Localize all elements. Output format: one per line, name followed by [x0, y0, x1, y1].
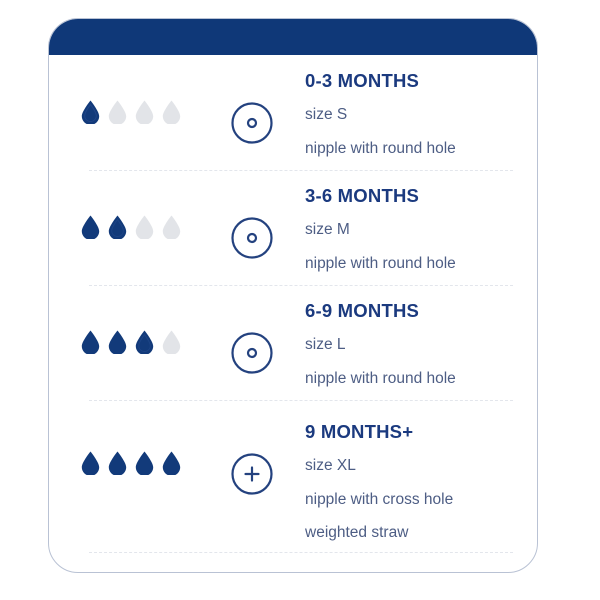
flow-rate-guide-card: 0-3 MONTHS size S nipple with round hole — [48, 18, 538, 573]
droplet-icon — [108, 100, 127, 124]
flow-level-drops — [81, 70, 205, 124]
nipple-icon-wrapper — [205, 70, 275, 146]
size-rows-list: 0-3 MONTHS size S nipple with round hole — [49, 56, 538, 553]
droplet-icon — [162, 100, 181, 124]
droplet-icon — [81, 330, 100, 354]
row-divider — [89, 552, 513, 553]
row-detail-line: nipple with round hole — [305, 139, 515, 158]
nipple-icon-wrapper — [205, 421, 275, 497]
table-row: 3-6 MONTHS size M nipple with round hole — [49, 171, 538, 286]
row-text-block: 9 MONTHS+ size XL nipple with cross hole… — [305, 421, 515, 542]
droplet-icon — [108, 330, 127, 354]
card-header-bar — [48, 18, 538, 55]
flow-level-drops — [81, 421, 205, 475]
table-row: 0-3 MONTHS size S nipple with round hole — [49, 56, 538, 171]
droplet-icon — [162, 330, 181, 354]
nipple-icon-wrapper — [205, 185, 275, 261]
row-detail-line: size L — [305, 335, 515, 354]
row-detail-line: nipple with cross hole — [305, 490, 515, 509]
row-title: 0-3 MONTHS — [305, 70, 515, 92]
row-text-block: 0-3 MONTHS size S nipple with round hole — [305, 70, 515, 158]
droplet-icon — [135, 100, 154, 124]
droplet-icon — [135, 330, 154, 354]
table-row: 6-9 MONTHS size L nipple with round hole — [49, 286, 538, 401]
circle-round-hole-icon — [229, 330, 275, 376]
row-detail-line: nipple with round hole — [305, 254, 515, 273]
droplet-icon — [135, 451, 154, 475]
droplet-icon — [135, 215, 154, 239]
droplet-icon — [162, 215, 181, 239]
row-title: 9 MONTHS+ — [305, 421, 515, 443]
droplet-icon — [81, 215, 100, 239]
droplet-icon — [81, 100, 100, 124]
circle-round-hole-icon — [229, 215, 275, 261]
row-text-block: 3-6 MONTHS size M nipple with round hole — [305, 185, 515, 273]
row-detail-line: nipple with round hole — [305, 369, 515, 388]
table-row: 9 MONTHS+ size XL nipple with cross hole… — [49, 401, 538, 553]
flow-level-drops — [81, 185, 205, 239]
droplet-icon — [108, 451, 127, 475]
flow-level-drops — [81, 300, 205, 354]
nipple-icon-wrapper — [205, 300, 275, 376]
circle-round-hole-icon — [229, 100, 275, 146]
row-detail-line: size XL — [305, 456, 515, 475]
circle-cross-hole-icon — [229, 451, 275, 497]
droplet-icon — [81, 451, 100, 475]
droplet-icon — [162, 451, 181, 475]
row-detail-line: weighted straw — [305, 523, 515, 542]
row-title: 3-6 MONTHS — [305, 185, 515, 207]
row-detail-line: size S — [305, 105, 515, 124]
row-text-block: 6-9 MONTHS size L nipple with round hole — [305, 300, 515, 388]
droplet-icon — [108, 215, 127, 239]
row-title: 6-9 MONTHS — [305, 300, 515, 322]
row-detail-line: size M — [305, 220, 515, 239]
